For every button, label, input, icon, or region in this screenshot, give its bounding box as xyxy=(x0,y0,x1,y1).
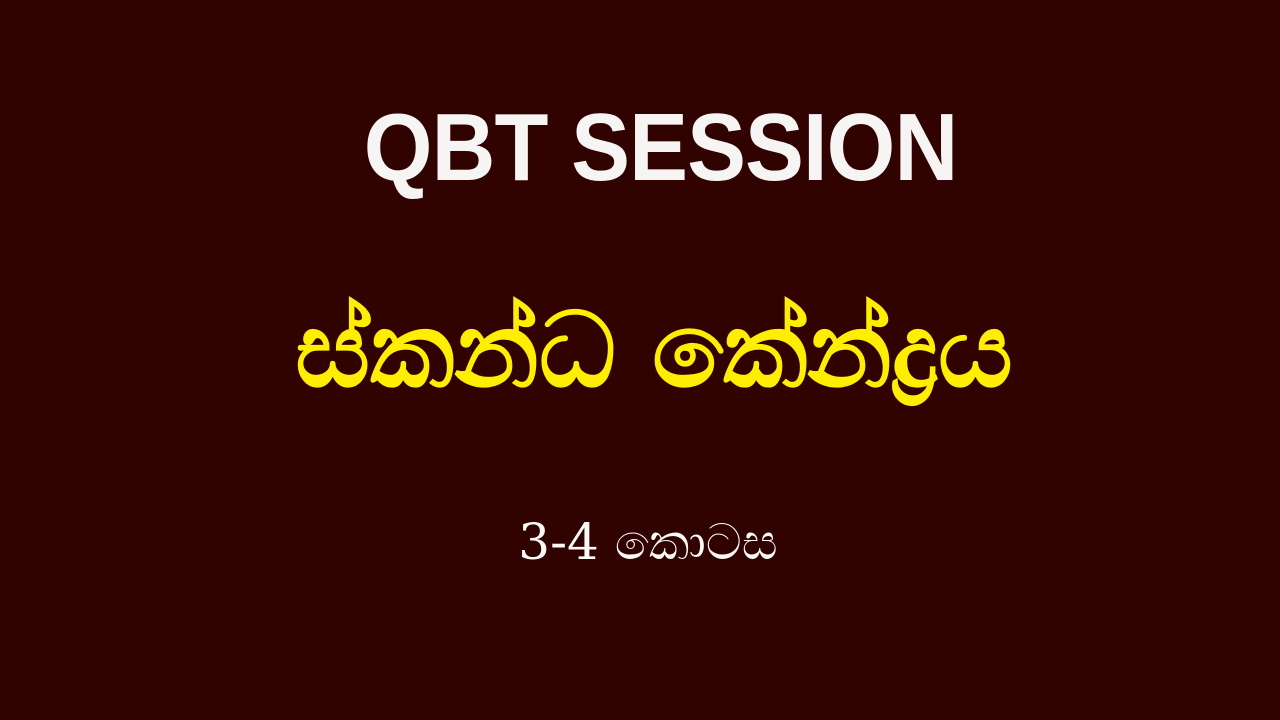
headline-container: ස්කන්ධ කේන්ද්‍රය xyxy=(0,292,1280,408)
headline-sinhala: ස්කන්ධ කේන්ද්‍රය xyxy=(295,292,1013,408)
session-title: QBT SESSION xyxy=(364,100,958,196)
subtitle-container: 3-4 කොටස xyxy=(0,512,1280,572)
subtitle-part-number: 3-4 කොටස xyxy=(518,512,777,572)
session-title-container: QBT SESSION xyxy=(0,100,1280,196)
title-slide: QBT SESSION ස්කන්ධ කේන්ද්‍රය 3-4 කොටස xyxy=(0,0,1280,720)
